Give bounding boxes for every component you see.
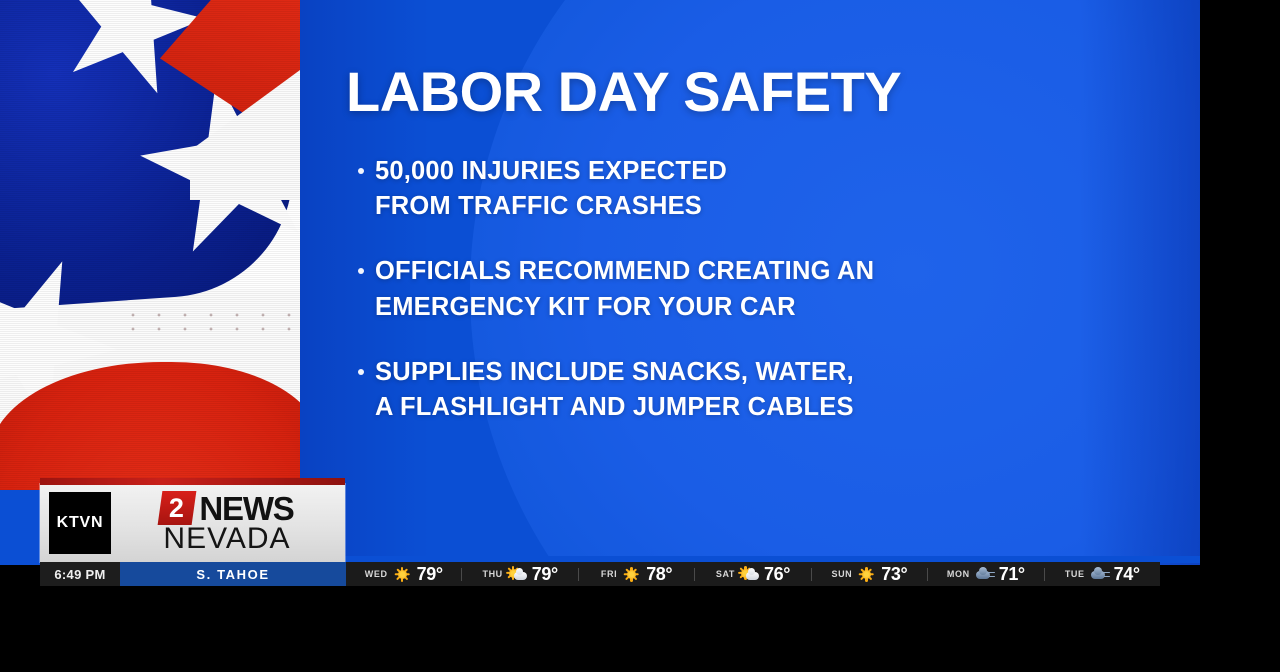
bullet-text: SUPPLIES INCLUDE SNACKS, WATER, A FLASHL… <box>375 355 854 425</box>
windy-icon <box>1090 567 1109 582</box>
logo-red-accent <box>40 478 345 485</box>
bullet-dot-icon <box>358 369 364 375</box>
forecast-day: SUN73° <box>812 564 927 585</box>
forecast-day-label: TUE <box>1065 569 1085 579</box>
sunny-icon <box>622 567 641 582</box>
callsign-text: KTVN <box>57 514 104 532</box>
news-wordmark: NEWS <box>199 492 293 525</box>
forecast-day-label: SUN <box>831 569 852 579</box>
brand-block: 2 NEWS NEVADA <box>115 491 345 555</box>
story-panel: LABOR DAY SAFETY 50,000 INJURIES EXPECTE… <box>300 0 1200 565</box>
forecast-day-label: SAT <box>716 569 735 579</box>
partly-cloudy-icon <box>740 567 759 582</box>
region-wordmark: NEVADA <box>163 523 290 555</box>
forecast-temperature: 76° <box>764 564 790 585</box>
sunny-icon <box>857 567 876 582</box>
forecast-day-label: FRI <box>601 569 617 579</box>
forecast-temperature: 71° <box>999 564 1025 585</box>
bullet-text: 50,000 INJURIES EXPECTED FROM TRAFFIC CR… <box>375 154 727 224</box>
forecast-day: TUE74° <box>1045 564 1160 585</box>
forecast-temperature: 78° <box>646 564 672 585</box>
channel-number-text: 2 <box>170 495 185 522</box>
list-item: SUPPLIES INCLUDE SNACKS, WATER, A FLASHL… <box>346 355 1200 425</box>
partly-cloudy-icon <box>508 567 527 582</box>
clock-text: 6:49 PM <box>54 567 105 582</box>
bullet-dot-icon <box>358 168 364 174</box>
location-label: S. TAHOE <box>120 562 346 586</box>
bullet-list: 50,000 INJURIES EXPECTED FROM TRAFFIC CR… <box>346 154 1200 425</box>
list-item: OFFICIALS RECOMMEND CREATING AN EMERGENC… <box>346 254 1200 324</box>
forecast-day: FRI78° <box>579 564 694 585</box>
station-logo-bug: KTVN 2 NEWS NEVADA <box>40 484 345 562</box>
location-text: S. TAHOE <box>196 567 269 582</box>
american-flag-photo <box>0 0 300 490</box>
forecast-day: MON71° <box>928 564 1043 585</box>
forecast-temperature: 79° <box>532 564 558 585</box>
page-title: LABOR DAY SAFETY <box>346 64 1200 120</box>
channel-number-badge: 2 <box>158 491 197 525</box>
bullet-text: OFFICIALS RECOMMEND CREATING AN EMERGENC… <box>375 254 874 324</box>
forecast-strip: WED79°THU79°FRI78°SAT76°SUN73°MON71°TUE7… <box>346 562 1160 586</box>
panel-content: LABOR DAY SAFETY 50,000 INJURIES EXPECTE… <box>300 0 1200 425</box>
forecast-temperature: 73° <box>881 564 907 585</box>
broadcast-screen: LABOR DAY SAFETY 50,000 INJURIES EXPECTE… <box>0 0 1280 672</box>
forecast-day: THU79° <box>462 564 577 585</box>
forecast-day-label: THU <box>482 569 502 579</box>
forecast-temperature: 74° <box>1114 564 1140 585</box>
clock: 6:49 PM <box>40 562 120 586</box>
forecast-day-label: WED <box>365 569 388 579</box>
forecast-day-label: MON <box>947 569 970 579</box>
list-item: 50,000 INJURIES EXPECTED FROM TRAFFIC CR… <box>346 154 1200 224</box>
brand-row: 2 NEWS <box>160 491 293 525</box>
windy-icon <box>975 567 994 582</box>
forecast-temperature: 79° <box>417 564 443 585</box>
forecast-day: SAT76° <box>695 564 810 585</box>
bottom-ticker: 6:49 PM S. TAHOE WED79°THU79°FRI78°SAT76… <box>40 562 1160 586</box>
sunny-icon <box>393 567 412 582</box>
photo-grain <box>0 0 300 490</box>
callsign-badge: KTVN <box>49 492 111 554</box>
forecast-day: WED79° <box>346 564 461 585</box>
bullet-dot-icon <box>358 268 364 274</box>
